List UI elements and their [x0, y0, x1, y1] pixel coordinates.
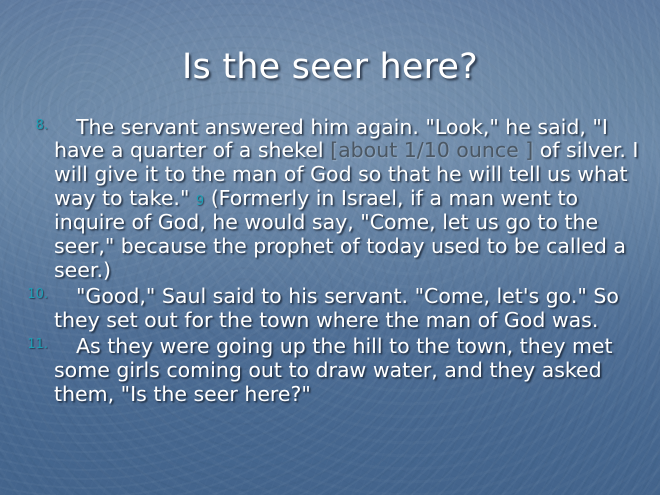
slide-body: 8. The servant answered him again. "Look…	[14, 115, 646, 407]
verse-marker-10: 10.	[14, 284, 54, 306]
verse-marker-11: 11.	[14, 334, 54, 356]
verse-item: 10. "Good," Saul said to his servant. "C…	[14, 284, 646, 332]
verse-text-8: The servant answered him again. "Look," …	[54, 115, 646, 283]
slide-content: Is the seer here? 8. The servant answere…	[0, 0, 660, 406]
verse-text-10: "Good," Saul said to his servant. "Come,…	[54, 284, 646, 332]
verse-marker-8: 8.	[14, 115, 54, 137]
slide-title: Is the seer here?	[0, 0, 660, 87]
verse-item: 11. As they were going up the hill to th…	[14, 334, 646, 406]
verse-marker-9: 9	[196, 194, 204, 209]
presentation-slide: Is the seer here? 8. The servant answere…	[0, 0, 660, 495]
verse-text-11: As they were going up the hill to the to…	[54, 334, 646, 406]
verse-item: 8. The servant answered him again. "Look…	[14, 115, 646, 283]
translator-note: [about 1/10 ounce ]	[330, 138, 533, 162]
